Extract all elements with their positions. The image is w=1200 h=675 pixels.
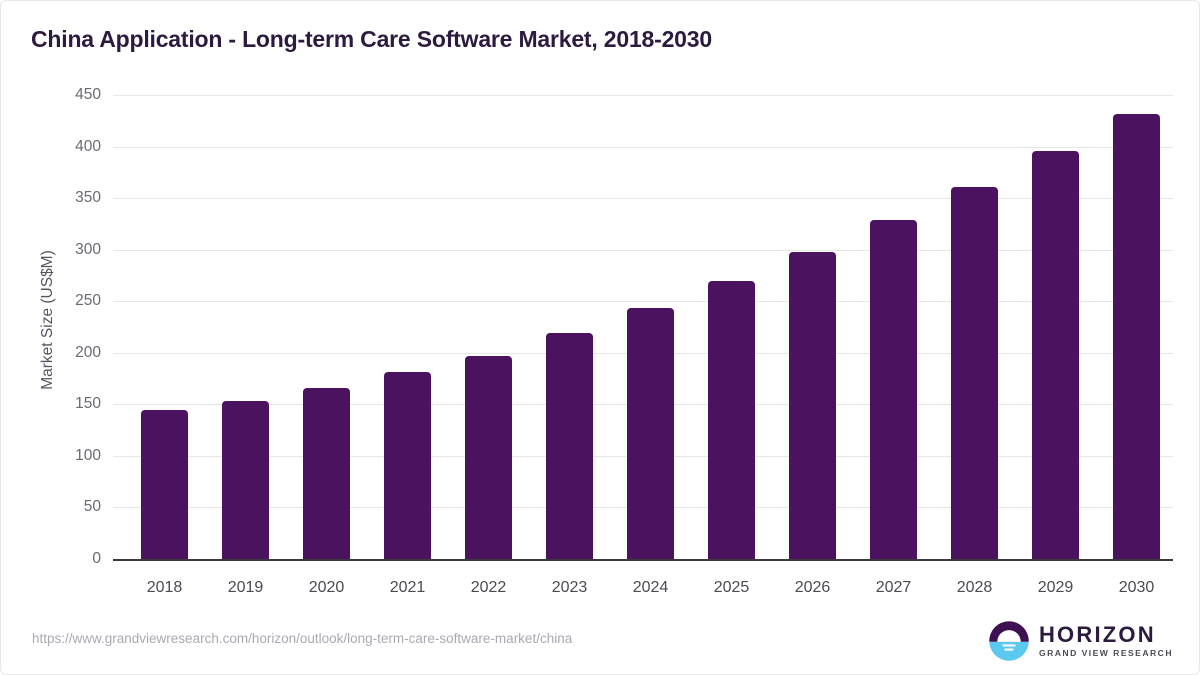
x-axis-tick-label: 2029: [1015, 579, 1096, 597]
x-axis-tick-label: 2026: [772, 579, 853, 597]
plot-area: Market Size (US$M) 050100150200250300350…: [1, 1, 1200, 675]
horizon-logo-text: HORIZON GRAND VIEW RESEARCH: [1039, 624, 1173, 658]
x-axis-tick-label: 2022: [448, 579, 529, 597]
y-axis-tick-label: 100: [31, 447, 101, 465]
x-axis-tick-label: 2020: [286, 579, 367, 597]
x-axis-tick-label: 2025: [691, 579, 772, 597]
y-axis-tick-label: 0: [31, 550, 101, 568]
x-axis-tick-labels: 2018201920202021202220232024202520262027…: [113, 1, 1173, 675]
x-axis-tick-label: 2023: [529, 579, 610, 597]
logo-tagline: GRAND VIEW RESEARCH: [1039, 649, 1173, 658]
x-axis-tick-label: 2028: [934, 579, 1015, 597]
x-axis-tick-label: 2019: [205, 579, 286, 597]
x-axis-tick-label: 2024: [610, 579, 691, 597]
chart-page: China Application - Long-term Care Softw…: [0, 0, 1200, 675]
y-axis-tick-label: 250: [31, 292, 101, 310]
x-axis-tick-label: 2030: [1096, 579, 1177, 597]
y-axis-tick-label: 300: [31, 241, 101, 259]
y-axis-tick-label: 200: [31, 344, 101, 362]
y-axis-tick-label: 350: [31, 189, 101, 207]
y-axis-tick-label: 150: [31, 395, 101, 413]
horizon-logo-icon: [988, 620, 1030, 662]
horizon-logo: HORIZON GRAND VIEW RESEARCH: [988, 619, 1173, 663]
x-axis-tick-label: 2021: [367, 579, 448, 597]
x-axis-tick-label: 2018: [124, 579, 205, 597]
logo-wordmark: HORIZON: [1039, 624, 1173, 646]
y-axis-tick-label: 450: [31, 86, 101, 104]
y-axis-tick-label: 400: [31, 138, 101, 156]
source-url[interactable]: https://www.grandviewresearch.com/horizo…: [32, 631, 572, 646]
y-axis-tick-label: 50: [31, 498, 101, 516]
x-axis-tick-label: 2027: [853, 579, 934, 597]
